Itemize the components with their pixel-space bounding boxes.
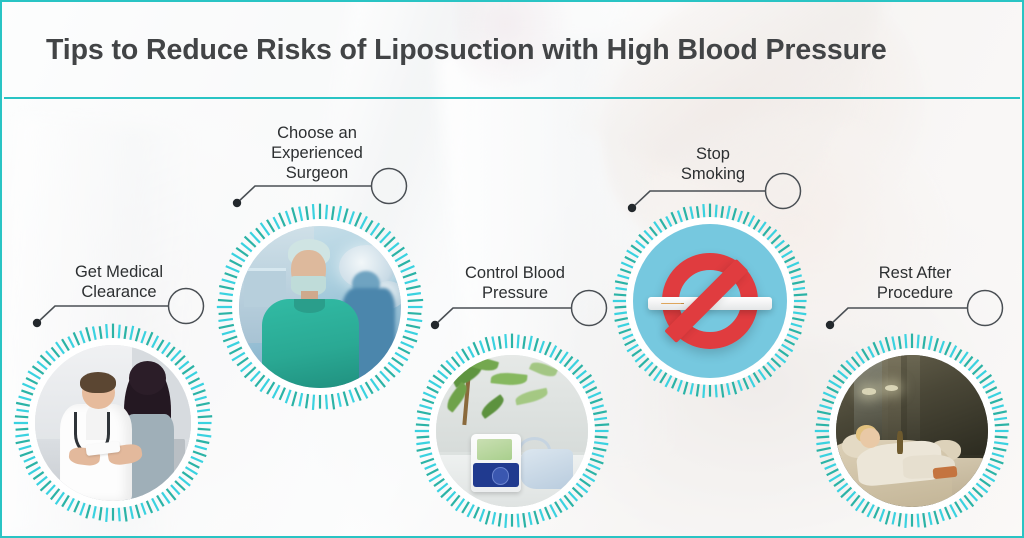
medallion-control-blood-pressure[interactable] [414,333,610,529]
photo-stop-smoking [633,224,787,378]
label-choose-an-experienced-surgeon: Choose an Experienced Surgeon [238,123,396,183]
label-get-medical-clearance: Get Medical Clearance [40,262,198,302]
medallion-get-medical-clearance[interactable] [13,323,213,523]
title-band: Tips to Reduce Risks of Liposuction with… [2,2,1022,99]
photo-control-blood-pressure [436,355,588,507]
photo-rest-after-procedure [836,355,988,507]
title-divider [4,97,1020,99]
label-stop-smoking: Stop Smoking [634,144,792,184]
infographic-canvas: Tips to Reduce Risks of Liposuction with… [0,0,1024,538]
medallion-rest-after-procedure[interactable] [814,333,1010,529]
page-title: Tips to Reduce Risks of Liposuction with… [2,34,887,67]
medallion-choose-an-experienced-surgeon[interactable] [216,203,424,411]
label-control-blood-pressure: Control Blood Pressure [436,263,594,303]
label-rest-after-procedure: Rest After Procedure [836,263,994,303]
medallion-stop-smoking[interactable] [612,203,808,399]
photo-get-medical-clearance [35,345,191,501]
photo-choose-an-experienced-surgeon [239,226,401,388]
